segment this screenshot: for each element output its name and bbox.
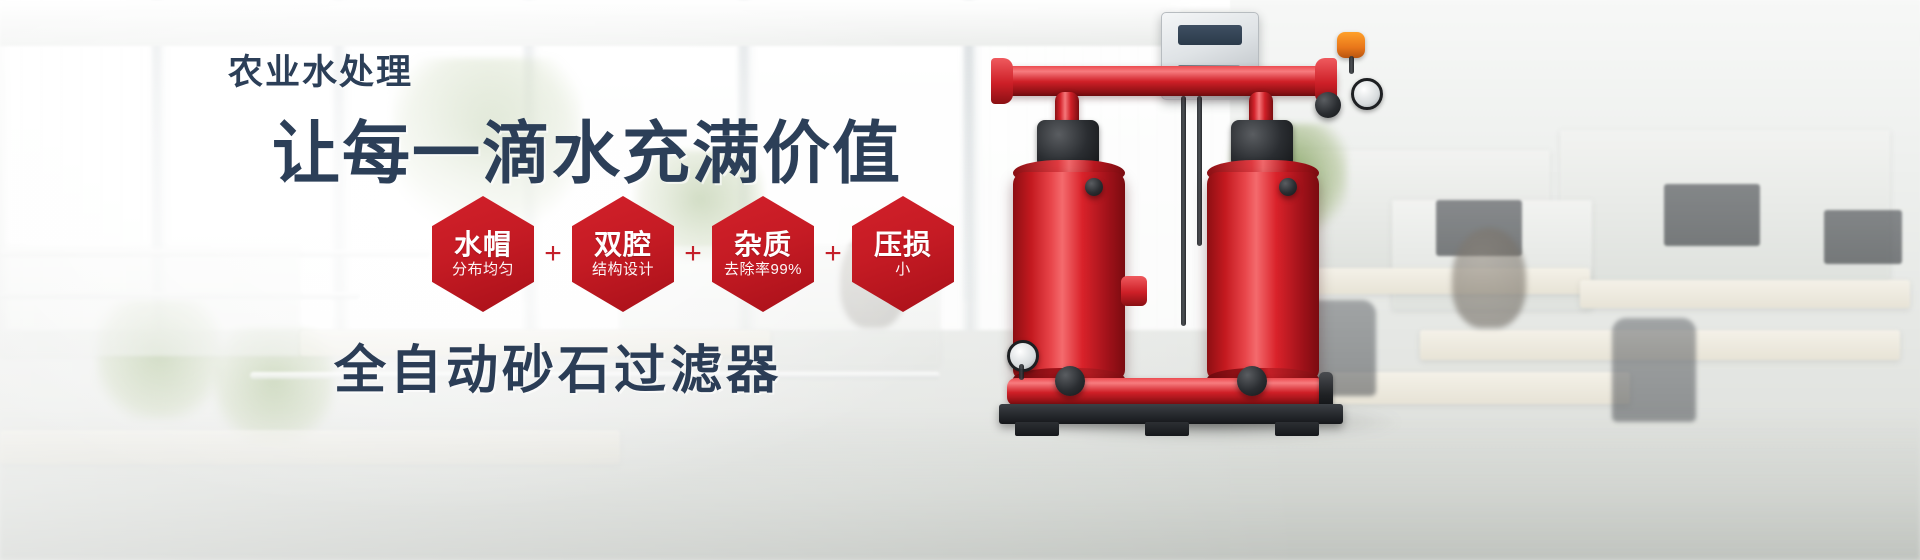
ball-valve-right [1315,92,1341,118]
feature-badge-2-subtitle: 结构设计 [592,262,654,279]
drain-valve-left [1055,366,1085,396]
feature-badge-4-subtitle: 小 [895,262,911,279]
gauge-stem-bottom [1019,364,1024,380]
tank-right-handhole [1279,178,1297,196]
feature-badge-3-subtitle: 去除率99% [724,262,802,279]
subheadline-product-name: 全自动砂石过滤器 [334,328,782,403]
controller-cable [1181,96,1186,326]
tank-left-side-nozzle [1121,276,1147,306]
product-image-sand-filter [985,0,1445,560]
copy-block: 农业水处理 让每一滴水充满价值 水帽 分布均匀 + 双腔 结构设计 + 杂质 去… [0,0,1000,560]
controller-cable [1197,96,1202,246]
headline-text: 让每一滴水充满价值 [272,98,902,197]
top-header-pipe [999,66,1337,96]
skid-foot [1275,422,1319,436]
feature-badge-4: 压损 小 [852,196,954,312]
feature-badge-row: 水帽 分布均匀 + 双腔 结构设计 + 杂质 去除率99% + 压损 小 [430,196,956,312]
tank-left-handhole [1085,178,1103,196]
eyebrow-text: 农业水处理 [228,44,413,95]
feature-badge-4-title: 压损 [874,230,932,259]
feature-badge-1-subtitle: 分布均匀 [452,262,514,279]
feature-badge-2: 双腔 结构设计 [572,196,674,312]
air-release-valve [1337,32,1365,58]
feature-badge-1-title: 水帽 [454,230,512,259]
feature-badge-1: 水帽 分布均匀 [432,196,534,312]
plus-separator-2: + [676,239,710,269]
feature-badge-3-title: 杂质 [734,230,792,259]
skid-foot [1015,422,1059,436]
plus-separator-3: + [816,239,850,269]
skid-base [999,404,1343,424]
pressure-gauge-top [1351,78,1383,110]
controller-screen [1178,25,1242,45]
tank-right [1207,172,1319,380]
skid-foot [1145,422,1189,436]
drain-valve-right [1237,366,1267,396]
valve-stem [1349,56,1354,74]
feature-badge-3: 杂质 去除率99% [712,196,814,312]
feature-badge-2-title: 双腔 [594,230,652,259]
promo-banner: 农业水处理 让每一滴水充满价值 水帽 分布均匀 + 双腔 结构设计 + 杂质 去… [0,0,1920,560]
plus-separator-1: + [536,239,570,269]
